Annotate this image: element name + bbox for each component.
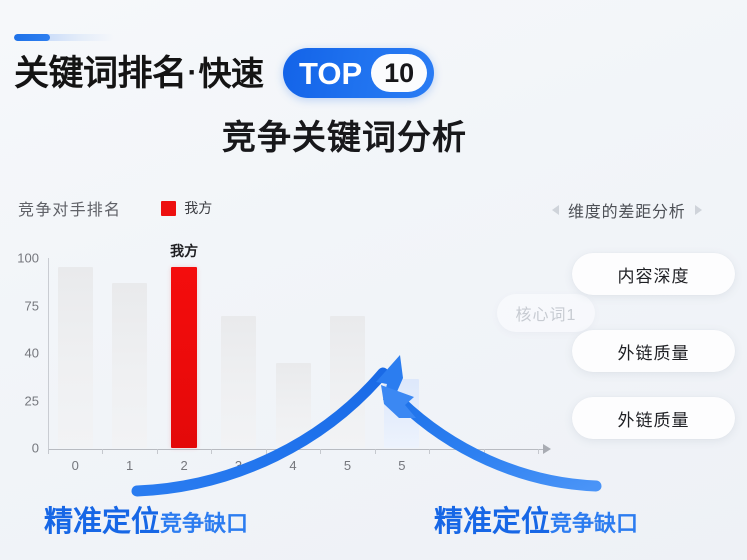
- ghost-card-label: 核心词1: [516, 301, 577, 325]
- page-title-sub: 快速: [199, 57, 264, 90]
- bar-0: [58, 267, 93, 448]
- dimension-card-label: 外链质量: [618, 406, 690, 431]
- legend-swatch-icon: [161, 201, 176, 216]
- top-rank-badge-label: TOP: [299, 58, 362, 89]
- y-tick-label: 0: [32, 441, 39, 456]
- right-panel-title: 维度的差距分析: [568, 198, 686, 222]
- dimension-card-label: 内容深度: [618, 262, 690, 287]
- page-title: 关键词排名 · 快速: [14, 47, 264, 99]
- bar-chart-plot-area: 我方: [48, 258, 538, 448]
- triangle-left-icon: [552, 205, 559, 215]
- y-tick-label: 25: [25, 393, 39, 408]
- x-tickmark: [48, 449, 49, 454]
- dimension-card-2[interactable]: 外链质量: [572, 397, 735, 439]
- x-tickmark: [484, 449, 485, 454]
- x-tick-label: 5: [398, 458, 405, 473]
- callout-left-weak: 竞争缺口: [160, 513, 248, 535]
- x-tick-label: 3: [235, 458, 242, 473]
- right-panel-header: 维度的差距分析: [552, 198, 702, 222]
- triangle-right-icon: [695, 205, 702, 215]
- bar-1: [112, 283, 147, 448]
- bar-6-ghost: [384, 379, 419, 448]
- page-title-main: 关键词排名: [14, 56, 187, 91]
- x-tickmark: [102, 449, 103, 454]
- x-tickmark: [538, 449, 539, 454]
- ghost-card-core-keyword: 核心词1: [497, 294, 595, 332]
- callout-right: 精准定位 竞争缺口: [434, 508, 638, 537]
- x-tick-label: 4: [289, 458, 296, 473]
- callout-right-strong: 精准定位: [434, 508, 550, 537]
- bar-4: [276, 363, 311, 448]
- top-rank-badge: TOP 10: [283, 48, 434, 98]
- x-tickmark: [375, 449, 376, 454]
- callout-left: 精准定位 竞争缺口: [44, 508, 248, 537]
- page-title-separator: ·: [187, 58, 199, 88]
- top-rank-badge-number: 10: [371, 54, 427, 92]
- progress-bar-decoration: [14, 34, 114, 41]
- dimension-card-1[interactable]: 外链质量: [572, 330, 735, 372]
- dimension-card-0[interactable]: 内容深度: [572, 253, 735, 295]
- x-tick-label: 0: [72, 458, 79, 473]
- x-tickmark: [157, 449, 158, 454]
- chart-caption: 竞争对手排名: [18, 196, 121, 220]
- bar-2-highlight: 我方: [171, 267, 197, 448]
- progress-bar-fill: [14, 34, 50, 41]
- legend-label: 我方: [184, 198, 212, 218]
- x-axis-arrow-icon: [543, 444, 551, 454]
- bar-5: [330, 316, 365, 448]
- callout-right-weak: 竞争缺口: [550, 513, 638, 535]
- x-tickmark: [211, 449, 212, 454]
- chart-header: 竞争对手排名 我方: [18, 196, 212, 220]
- x-tick-label: 1: [126, 458, 133, 473]
- x-tickmark: [429, 449, 430, 454]
- x-axis-line: [48, 449, 545, 450]
- x-tick-label: 5: [344, 458, 351, 473]
- bar-chart: 我方: [48, 258, 538, 448]
- dimension-card-label: 外链质量: [618, 339, 690, 364]
- x-tickmark: [320, 449, 321, 454]
- callout-left-strong: 精准定位: [44, 508, 160, 537]
- y-tick-label: 100: [17, 251, 39, 266]
- y-tick-label: 40: [25, 346, 39, 361]
- y-tick-label: 75: [25, 298, 39, 313]
- bar-highlight-label: 我方: [170, 241, 198, 261]
- x-tick-label: 2: [180, 458, 187, 473]
- bar-3: [221, 316, 256, 448]
- x-tickmark: [266, 449, 267, 454]
- legend-item-ours: 我方: [161, 198, 212, 218]
- section-subtitle: 竞争关键词分析: [222, 118, 467, 159]
